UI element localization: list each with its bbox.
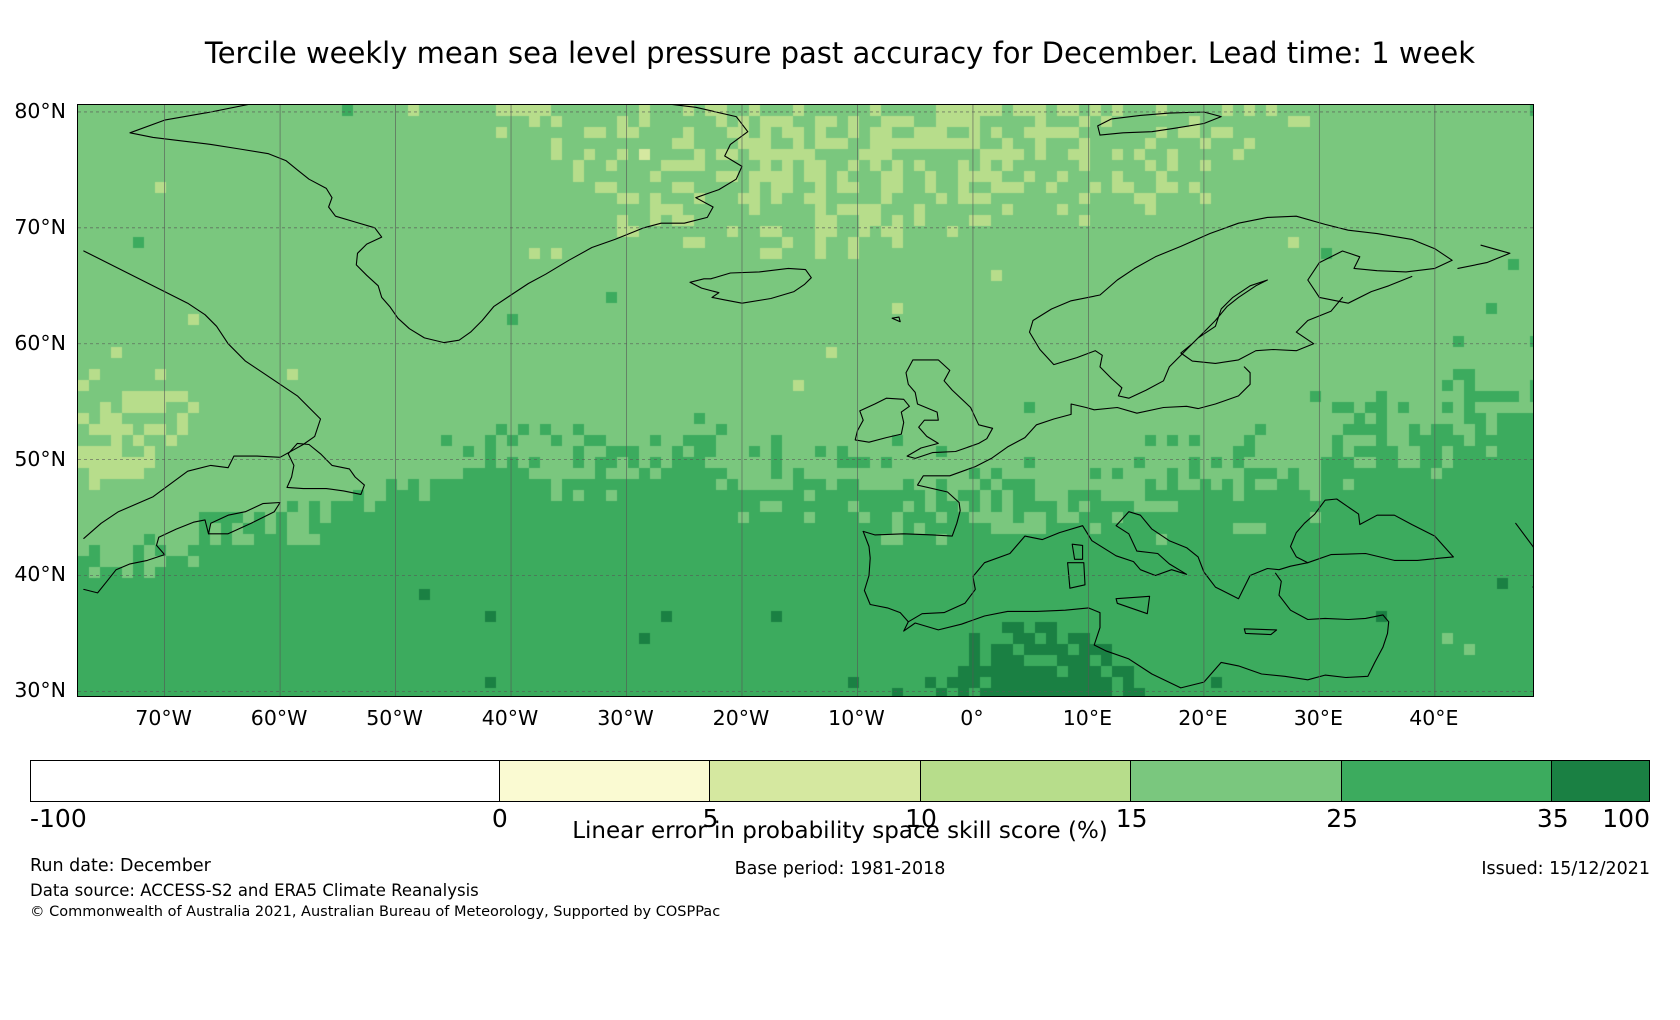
lon-tick-label-10: 30°E xyxy=(1294,706,1343,730)
lon-tick-label-9: 20°E xyxy=(1178,706,1227,730)
lon-tick-label-3: 40°W xyxy=(482,706,539,730)
colorbar-segment-1 xyxy=(499,761,710,801)
base-period-text: Base period: 1981-2018 xyxy=(0,859,1680,879)
issued-date-text: Issued: 15/12/2021 xyxy=(1481,859,1650,879)
lat-tick-label-3: 50°N xyxy=(0,447,66,471)
lat-tick-label-4: 40°N xyxy=(0,562,66,586)
lon-tick-label-2: 50°W xyxy=(366,706,423,730)
lat-tick-label-2: 60°N xyxy=(0,331,66,355)
lon-tick-label-4: 30°W xyxy=(597,706,654,730)
skill-score-heatmap xyxy=(78,105,1533,696)
lon-tick-label-6: 10°W xyxy=(828,706,885,730)
colorbar-label: Linear error in probability space skill … xyxy=(0,818,1680,844)
lon-tick-label-11: 40°E xyxy=(1409,706,1458,730)
map-plot-area[interactable] xyxy=(77,104,1534,697)
colorbar-segment-2 xyxy=(709,761,920,801)
chart-page: Tercile weekly mean sea level pressure p… xyxy=(0,0,1680,1020)
copyright-text: © Commonwealth of Australia 2021, Austra… xyxy=(30,904,720,920)
lon-tick-label-8: 10°E xyxy=(1063,706,1112,730)
colorbar-segment-4 xyxy=(1130,761,1341,801)
colorbar-segment-6 xyxy=(1551,761,1649,801)
lon-tick-label-1: 60°W xyxy=(251,706,308,730)
colorbar-gradient xyxy=(30,760,1650,802)
footer: Run date: December Base period: 1981-201… xyxy=(0,856,1680,976)
page-title: Tercile weekly mean sea level pressure p… xyxy=(0,36,1680,70)
lat-tick-label-0: 80°N xyxy=(0,99,66,123)
lat-tick-label-1: 70°N xyxy=(0,215,66,239)
lon-tick-label-5: 20°W xyxy=(713,706,770,730)
data-source-text: Data source: ACCESS-S2 and ERA5 Climate … xyxy=(30,881,479,900)
colorbar-segment-5 xyxy=(1341,761,1552,801)
lon-tick-label-0: 70°W xyxy=(135,706,192,730)
colorbar-segment-3 xyxy=(920,761,1131,801)
colorbar-segment-0 xyxy=(31,761,499,801)
lat-tick-label-5: 30°N xyxy=(0,678,66,702)
lon-tick-label-7: 0° xyxy=(960,706,983,730)
colorbar[interactable]: -1000510152535100 xyxy=(30,760,1650,802)
